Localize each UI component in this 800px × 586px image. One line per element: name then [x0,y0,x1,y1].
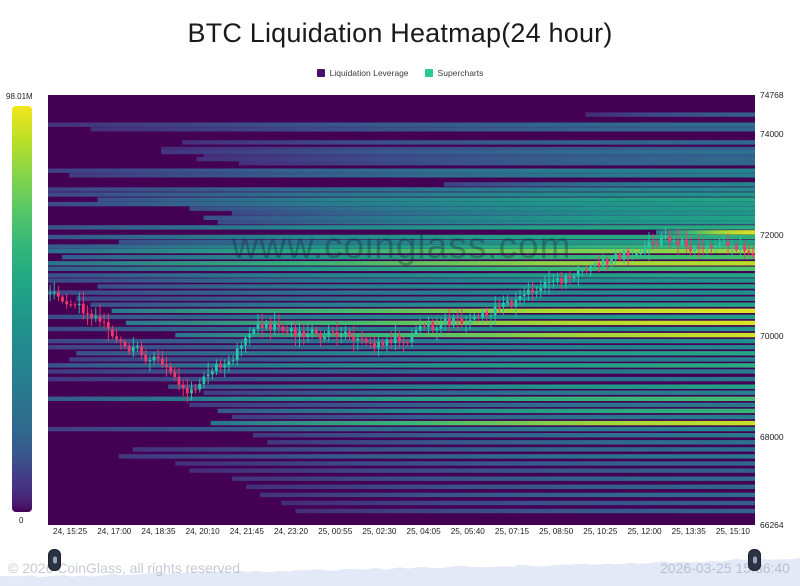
liquidation-band [76,297,755,301]
y-axis-label: 68000 [760,432,784,442]
liquidation-band [48,327,755,331]
liquidation-band [62,255,755,259]
candle-body [560,278,563,283]
candle-body [356,338,359,340]
liquidation-band [69,357,755,361]
y-axis-label: 70000 [760,331,784,341]
candle-body [144,355,147,361]
candle-body [714,246,717,248]
liquidation-band [48,377,755,381]
candle-body [406,342,409,343]
candle-body [157,357,160,359]
liquidation-band [232,415,755,419]
candle-body [589,266,592,271]
candle-body [219,364,222,367]
candle-body [623,251,626,260]
colorbar-gradient [12,106,32,512]
legend-item-liquidation-leverage[interactable]: Liquidation Leverage [317,68,409,78]
candle-body [664,236,667,238]
liquidation-heatmap-chart: BTC Liquidation Heatmap(24 hour) Liquida… [0,0,800,586]
candle-body [340,334,343,337]
candle-body [86,313,89,314]
candle-body [610,260,613,265]
liquidation-band [112,309,755,313]
candle-body [74,304,77,305]
liquidation-band [161,150,755,154]
liquidation-band [76,351,755,355]
candle-body [65,301,68,304]
x-axis: 24, 15:2524, 17:0024, 18:3524, 20:1024, … [0,527,800,543]
liquidation-band [48,261,755,265]
liquidation-band [204,391,756,395]
liquidation-band [295,509,755,513]
liquidation-band [197,157,756,161]
candle-body [722,242,725,243]
liquidation-band [232,211,755,215]
candle-body [643,248,646,253]
candle-body [82,304,85,314]
candle-body [394,336,397,343]
liquidation-band [189,468,755,472]
candle-body [94,317,97,318]
liquidation-band [133,447,755,451]
candle-body [602,260,605,267]
candle-body [248,334,251,338]
candle-body [265,324,268,328]
candle-body [269,324,272,330]
candle-body [548,282,551,283]
candle-body [107,322,110,329]
candle-body [336,332,339,337]
legend-item-supercharts[interactable]: Supercharts [425,68,484,78]
candle-body [165,365,168,367]
candle-body [169,367,172,372]
candle-body [136,346,139,347]
candle-body [377,342,380,348]
candle-body [149,360,152,361]
candle-body [485,312,488,316]
candle-body [498,307,501,308]
liquidation-band [239,161,755,165]
liquidation-band [182,140,755,144]
candle-body [61,297,64,302]
liquidation-band [189,207,755,211]
candle-body [535,291,538,292]
candle-body [660,238,663,245]
x-axis-label: 24, 17:00 [97,527,131,536]
candle-body [668,236,671,242]
candle-body [398,336,401,342]
candle-body [727,242,730,246]
candle-body [469,320,472,324]
candle-body [435,329,438,330]
x-axis-label: 25, 10:25 [583,527,617,536]
candle-body [735,246,738,251]
timestamp-text: 2026-03-25 15:36:40 [660,560,790,576]
candle-body [236,349,239,361]
candle-body [639,253,642,254]
candle-body [244,338,247,346]
candle-body [506,301,509,303]
liquidation-band [48,267,755,271]
candle-body [427,322,430,327]
candle-body [752,253,755,257]
candle-body [652,242,655,244]
candle-body [365,339,368,343]
candle-body [731,246,734,247]
liquidation-band [189,403,755,407]
x-axis-label: 24, 23:20 [274,527,308,536]
candle-body [103,322,106,323]
liquidation-band [48,202,755,206]
liquidation-band [98,197,756,201]
candle-body [323,337,326,339]
candle-body [523,295,526,296]
y-axis-label: 72000 [760,230,784,240]
candle-body [490,315,493,316]
candle-body [386,340,389,346]
page-title: BTC Liquidation Heatmap(24 hour) [0,18,800,49]
candle-body [128,346,131,351]
liquidation-band [48,427,755,431]
candle-body [564,276,567,283]
candle-body [648,242,651,248]
candle-body [465,324,468,325]
candle-body [203,377,206,385]
candle-body [286,331,289,332]
candle-body [352,336,355,340]
candle-body [348,332,351,337]
liquidation-band [260,493,755,497]
candle-body [361,338,364,339]
candle-body [494,307,497,316]
x-axis-label: 25, 04:05 [407,527,441,536]
candle-body [739,246,742,250]
candle-body [290,328,293,332]
liquidation-band [126,321,755,325]
candle-body [631,255,634,256]
candle-body [519,296,522,300]
candle-body [452,318,455,326]
candle-body [673,241,676,243]
candle-body [515,300,518,306]
liquidation-band [253,433,755,437]
x-axis-label: 24, 21:45 [230,527,264,536]
x-axis-label: 24, 15:25 [53,527,87,536]
liquidation-band [48,278,755,282]
candle-body [294,328,297,336]
candle-body [614,254,617,260]
candle-body [119,339,122,341]
candle-body [598,263,601,266]
candle-body [618,254,621,260]
x-axis-label: 25, 13:35 [672,527,706,536]
legend-label-liquidation-leverage: Liquidation Leverage [330,68,409,78]
candle-body [415,330,418,334]
candle-body [228,361,231,365]
liquidation-band [48,369,755,373]
candle-body [423,326,426,327]
liquidation-band [48,315,755,319]
candle-body [332,331,335,332]
candle-body [173,372,176,377]
x-axis-label: 25, 05:40 [451,527,485,536]
candle-body [577,270,580,276]
candle-body [527,290,530,295]
candle-body [273,324,276,330]
candle-body [552,281,555,282]
candle-body [510,301,513,306]
liquidation-band [48,397,755,401]
liquidation-band [48,339,755,343]
candle-body [53,292,56,293]
candle-body [240,345,243,348]
candle-body [381,342,384,346]
candle-body [656,244,659,245]
liquidation-band [656,230,755,234]
liquidation-band [48,192,755,196]
candle-body [132,347,135,351]
candle-body [697,247,700,248]
candle-body [544,282,547,288]
candle-body [369,343,372,344]
liquidation-band [48,273,755,277]
liquidation-band [90,127,755,131]
candle-body [743,246,746,251]
candle-body [178,377,181,385]
candle-body [444,319,447,326]
liquidation-band [281,501,755,505]
candle-body [456,318,459,319]
candle-body [710,247,713,248]
candle-body [257,324,260,329]
candle-body [211,371,214,374]
candle-body [477,317,480,318]
candle-body [373,343,376,347]
candle-body [747,251,750,253]
candle-body [182,385,185,389]
candle-body [307,333,310,337]
liquidation-band [48,225,755,229]
candle-body [502,303,505,307]
y-axis-label: 74768 [760,90,784,100]
candle-body [90,314,93,318]
liquidation-band [444,182,755,186]
liquidation-band [232,477,755,481]
candle-body [702,248,705,249]
legend-label-supercharts: Supercharts [438,68,484,78]
legend-swatch-supercharts [425,69,433,77]
liquidation-band [98,284,756,288]
candle-body [207,374,210,376]
x-axis-label: 24, 20:10 [186,527,220,536]
candle-body [70,304,73,305]
candle-body [606,260,609,265]
candle-body [252,329,255,334]
candle-body [124,341,127,346]
candle-body [223,365,226,367]
candle-body [344,332,347,335]
liquidation-band [48,290,755,294]
x-axis-label: 25, 07:15 [495,527,529,536]
candle-body [49,293,52,294]
candle-body [681,239,684,245]
candle-body [411,334,414,342]
range-handle-left[interactable] [48,549,61,571]
candle-body [689,247,692,252]
candle-body [198,384,201,390]
x-axis-label: 25, 15:10 [716,527,750,536]
candle-body [327,331,330,336]
candle-body [693,247,696,252]
liquidation-band [211,421,755,425]
candle-body [585,270,588,271]
heatmap-canvas [48,95,755,525]
liquidation-band [48,123,755,127]
liquidation-band [168,385,755,389]
candle-body [718,242,721,245]
liquidation-band [119,240,755,244]
candle-body [215,364,218,371]
candle-body [581,270,584,271]
liquidation-band [48,345,755,349]
candle-body [186,388,189,393]
candle-body [115,336,118,339]
heatmap-plot-area[interactable] [48,95,755,525]
liquidation-band [175,461,755,465]
liquidation-band [204,216,756,220]
candle-body [282,327,285,332]
liquidation-band [246,485,755,489]
candle-body [556,278,559,281]
candle-body [448,319,451,326]
range-handle-right[interactable] [748,549,761,571]
liquidation-band [48,187,755,191]
candle-body [460,319,463,324]
liquidation-band [48,169,755,173]
candle-body [635,253,638,255]
candle-body [627,251,630,257]
candle-body [402,342,405,343]
copyright-text: © 2026 CoinGlass, all rights reserved [8,560,240,576]
candle-body [569,276,572,278]
candle-body [311,329,314,333]
liquidation-band [585,112,755,116]
candle-body [685,239,688,246]
x-axis-label: 25, 00:55 [318,527,352,536]
candle-body [440,325,443,329]
candle-body [140,346,143,355]
candle-body [473,317,476,320]
candle-body [677,241,680,246]
candle-body [419,326,422,331]
candle-body [57,292,60,297]
candle-body [594,263,597,266]
candle-body [315,329,318,333]
candle-body [539,288,542,292]
candle-body [161,359,164,365]
y-axis-label: 74000 [760,129,784,139]
x-axis-label: 25, 08:50 [539,527,573,536]
candle-body [194,389,197,390]
candle-body [277,324,280,326]
candle-body [302,331,305,337]
candle-body [319,333,322,339]
candle-body [481,312,484,318]
liquidation-band [218,409,755,413]
candle-body [298,331,301,336]
x-axis-label: 25, 02:30 [362,527,396,536]
x-axis-label: 24, 18:35 [141,527,175,536]
candle-body [190,389,193,393]
colorbar-min-label: 0 [19,516,23,525]
colorbar-max-label: 98.01M [6,92,33,101]
x-axis-label: 25, 12:00 [627,527,661,536]
candle-body [111,329,114,336]
liquidation-band [69,173,755,177]
candle-body [261,324,264,327]
candle-body [99,317,102,322]
candle-body [431,322,434,330]
candle-body [706,247,709,249]
candle-body [390,340,393,343]
candle-body [531,290,534,293]
candle-body [573,276,576,278]
legend-swatch-liquidation-leverage [317,69,325,77]
candle-body [153,357,156,361]
liquidation-band [218,220,755,224]
liquidation-band [119,454,755,458]
chart-legend: Liquidation Leverage Supercharts [0,68,800,78]
candle-body [232,360,235,361]
liquidation-band [90,303,755,307]
candle-body [78,304,81,305]
liquidation-band [267,440,755,444]
